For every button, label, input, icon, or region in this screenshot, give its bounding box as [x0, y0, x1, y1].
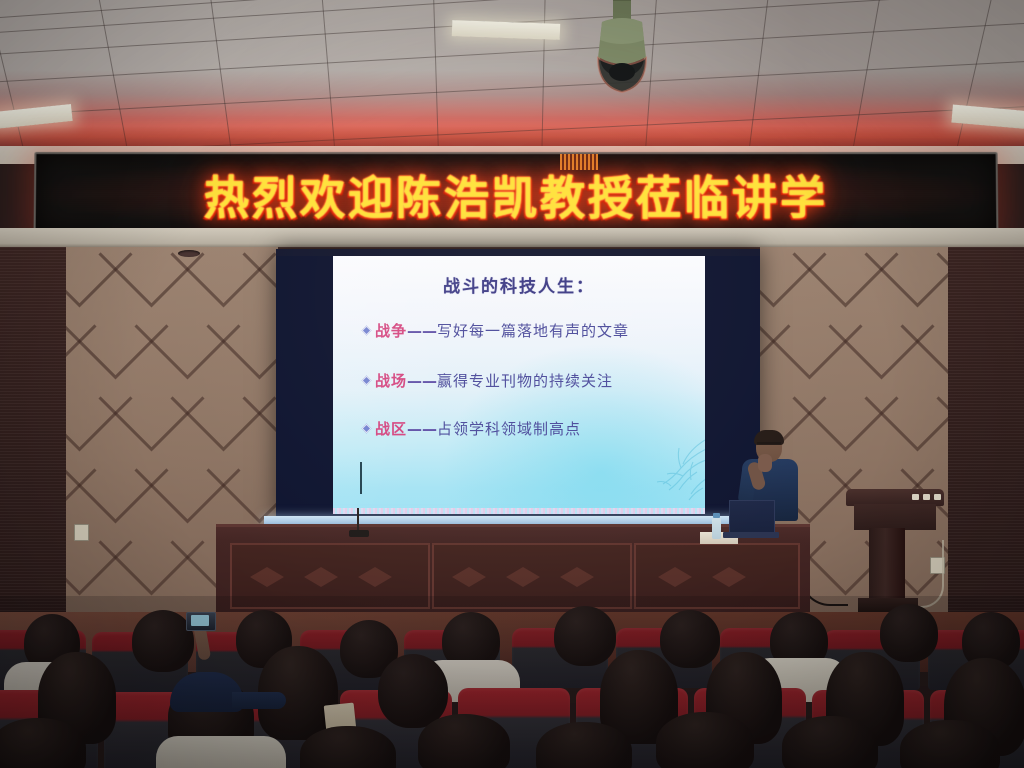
cap-brim: [232, 692, 286, 709]
bullet-2-key: 战场: [375, 370, 407, 391]
water-bottle: [712, 517, 721, 539]
bullet-1-dash: ——: [407, 322, 437, 340]
desk-diamond-carving: [712, 567, 746, 587]
slide-bottom-scanline: [333, 508, 705, 514]
phone-screen: [191, 615, 209, 626]
presenter-hand: [758, 454, 772, 472]
podium-button-1[interactable]: [912, 494, 919, 500]
wall-panel-dark-far-right: [948, 247, 1024, 625]
podium-button-3[interactable]: [934, 494, 941, 500]
audience-shoulders: [156, 736, 286, 768]
bullet-1-value: 写好每一篇落地有声的文章: [437, 320, 629, 341]
presenter-laptop-screen: [729, 500, 775, 535]
projection-screen-top-bar: [276, 249, 760, 256]
slide-pointer-line: [360, 462, 362, 494]
audience-head-foreground: [536, 722, 632, 768]
desk-diamond-carving: [358, 567, 392, 587]
suspended-tile-ceiling: [0, 0, 1024, 152]
podium-button-2[interactable]: [923, 494, 930, 500]
led-welcome-banner: 热烈欢迎陈浩凯教授莅临讲学: [34, 152, 999, 236]
podium-control-buttons[interactable]: [912, 494, 941, 500]
bullet-2-value: 赢得专业刊物的持续关注: [437, 370, 613, 391]
wall-outlet-left: [74, 524, 89, 541]
water-bottle-cap: [713, 513, 720, 518]
desk-diamond-carving: [560, 567, 594, 587]
audience-head: [132, 610, 194, 672]
desk-diamond-carving: [304, 567, 338, 587]
audience-seating: [0, 596, 1024, 768]
ceiling-speaker-grille: [178, 250, 200, 257]
lectern-podium-column: [869, 528, 905, 606]
led-glitch-artifact: [560, 154, 598, 170]
audience-head: [554, 606, 616, 666]
bullet-3-key: 战区: [375, 418, 407, 439]
audience-head-foreground: [900, 720, 1000, 768]
audience-head-foreground: [656, 712, 754, 768]
led-banner-text: 热烈欢迎陈浩凯教授莅临讲学: [204, 162, 828, 227]
bullet-3-value: 占领学科领域制高点: [437, 418, 581, 439]
presenter-glasses: [757, 442, 781, 449]
audience-head: [378, 654, 448, 728]
slide-coral-decoration: [585, 428, 705, 508]
ptz-dome-camera: [584, 0, 660, 116]
desk-microphone-base: [349, 530, 369, 537]
auditorium-photo: 热烈欢迎陈浩凯教授莅临讲学 战斗的科技人生： 战争 —— 写好每一篇落地有声的文…: [0, 0, 1024, 768]
audience-head: [660, 610, 720, 668]
audience-phone: [186, 612, 216, 631]
desk-diamond-carving: [658, 567, 692, 587]
bullet-marker-icon: [362, 326, 372, 336]
desk-microphone: [357, 508, 359, 532]
desk-diamond-carving: [452, 567, 486, 587]
audience-head-foreground: [782, 716, 878, 768]
slide-bullet-1: 战争 —— 写好每一篇落地有声的文章: [363, 320, 693, 341]
bullet-2-dash: ——: [407, 372, 437, 390]
lectern-podium-body: [854, 504, 936, 530]
presenter-laptop-base: [723, 532, 779, 538]
audience-head-foreground: [418, 714, 510, 768]
projected-slide: 战斗的科技人生： 战争 —— 写好每一篇落地有声的文章 战场 —— 赢得专业刊物…: [333, 256, 705, 514]
desk-diamond-carving: [506, 567, 540, 587]
bullet-1-key: 战争: [375, 320, 407, 341]
slide-title: 战斗的科技人生：: [333, 272, 705, 297]
bullet-marker-icon: [362, 424, 372, 434]
audience-head: [880, 604, 938, 662]
wall-panel-dark-far-left: [0, 247, 66, 625]
desk-diamond-carving: [250, 567, 284, 587]
bullet-marker-icon: [362, 376, 372, 386]
slide-bullet-2: 战场 —— 赢得专业刊物的持续关注: [363, 370, 693, 391]
bullet-3-dash: ——: [407, 420, 437, 438]
